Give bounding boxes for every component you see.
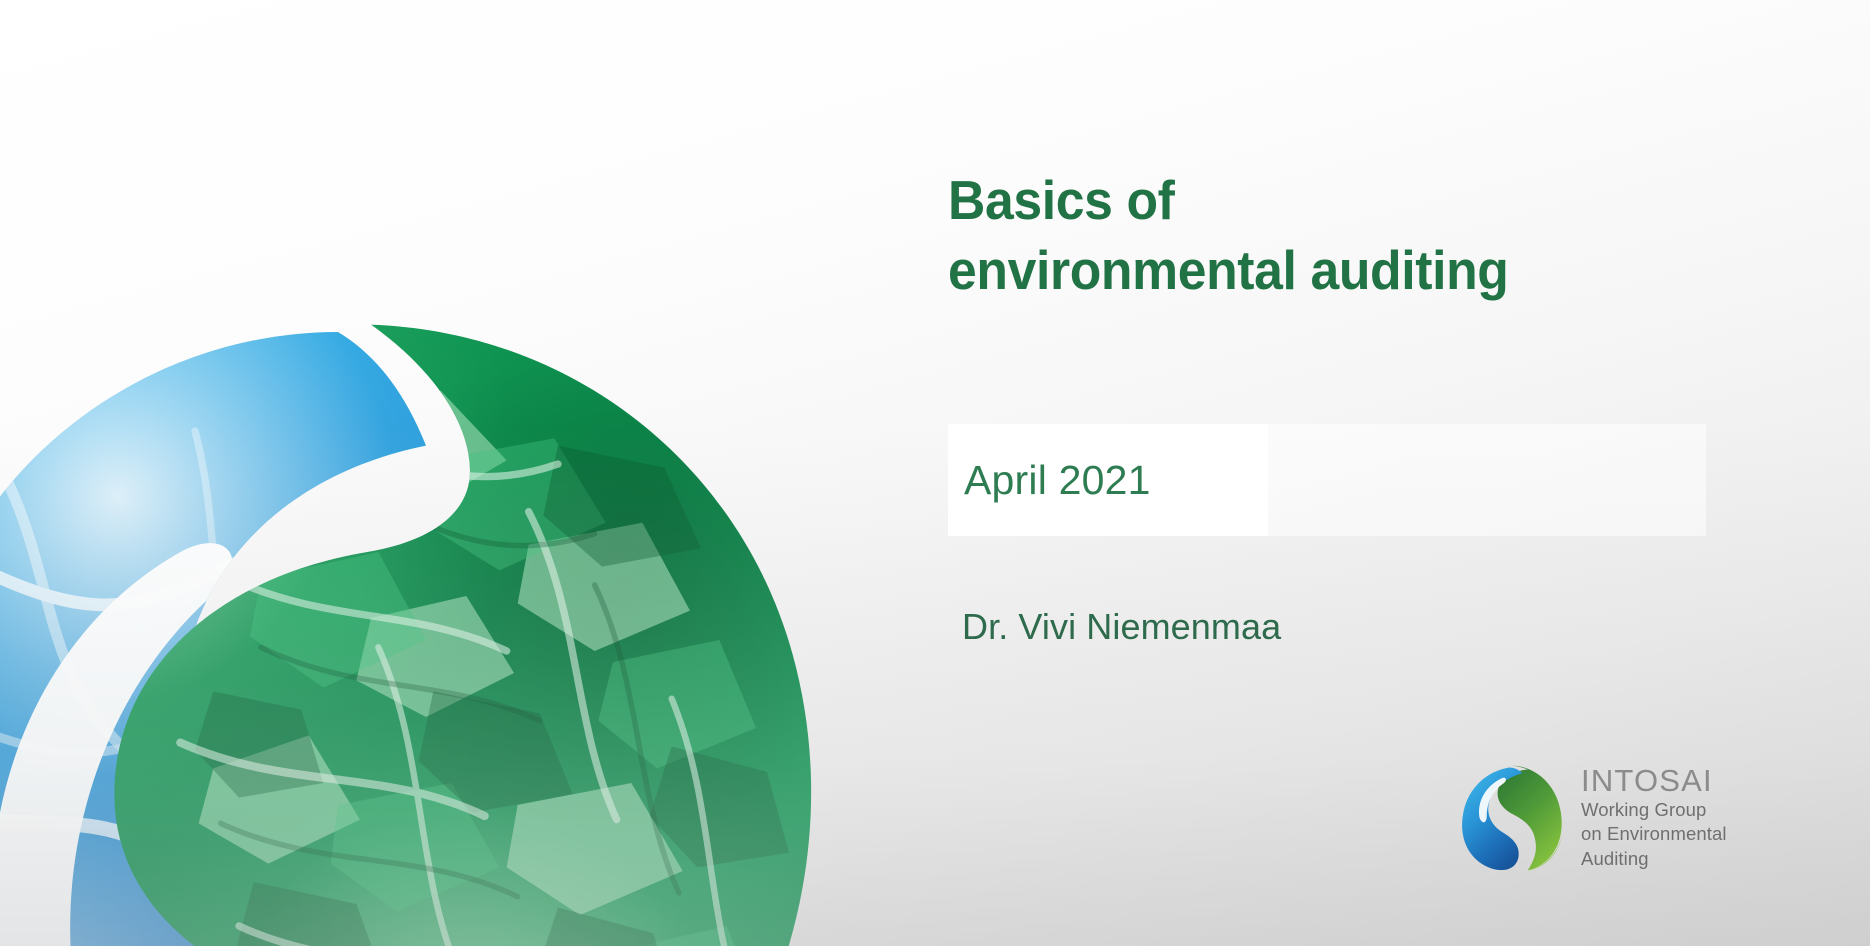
logo-brand-text: INTOSAI <box>1581 765 1727 798</box>
hero-logo-graphic <box>0 255 888 946</box>
page-title: Basics of environmental auditing <box>948 165 1719 306</box>
intosai-logo: INTOSAI Working Group on Environmental A… <box>1455 758 1727 876</box>
date-label: April 2021 <box>964 457 1151 504</box>
logo-subtitle-line1: Working Group <box>1581 798 1727 823</box>
logo-subtitle-line2: on Environmental <box>1581 822 1727 847</box>
intosai-logo-mark <box>1455 758 1567 876</box>
presentation-slide: Basics of environmental auditing April 2… <box>0 0 1870 946</box>
logo-subtitle-line3: Auditing <box>1581 847 1727 872</box>
intosai-wordmark: INTOSAI Working Group on Environmental A… <box>1581 763 1727 872</box>
author-label: Dr. Vivi Niemenmaa <box>962 606 1281 648</box>
